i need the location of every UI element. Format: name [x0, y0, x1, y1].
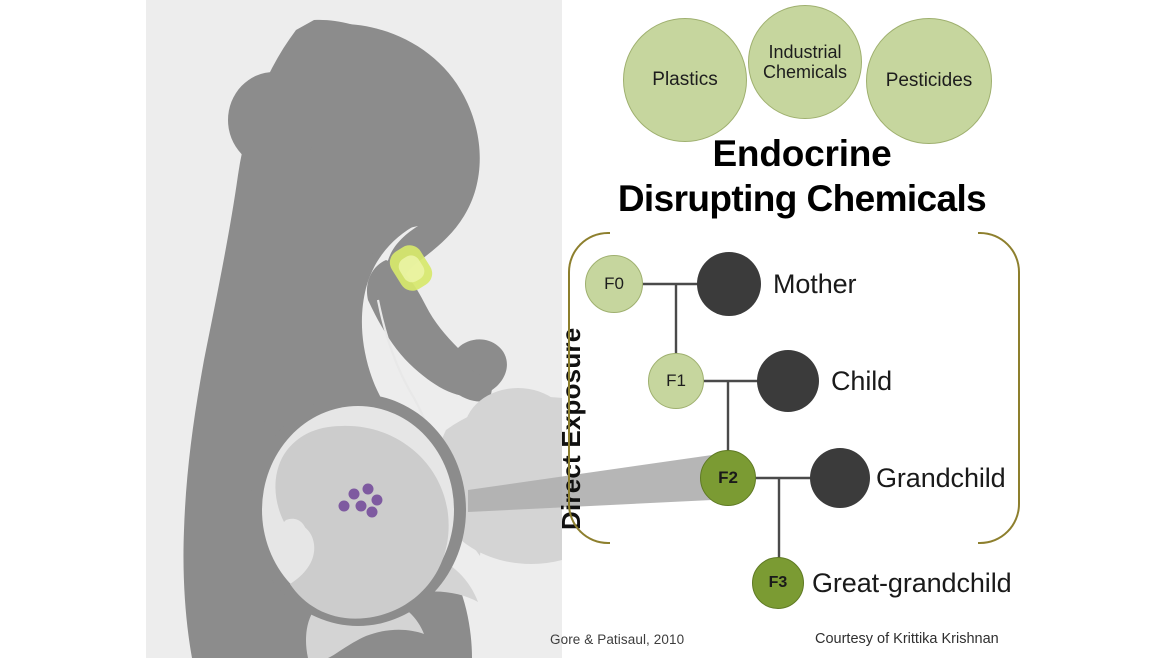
- pedigree-node-child-dot[interactable]: [757, 350, 819, 412]
- pedigree-node-f0[interactable]: F0: [585, 255, 643, 313]
- pedigree-node-f3[interactable]: F3: [752, 557, 804, 609]
- pedigree-node-f2[interactable]: F2: [700, 450, 756, 506]
- pedigree-node-code: F1: [666, 371, 686, 391]
- pedigree-node-code: F2: [718, 468, 738, 488]
- pedigree-node-code: F3: [769, 574, 788, 592]
- pedigree-node-mother-dot[interactable]: [697, 252, 761, 316]
- citation-right: Courtesy of Krittika Krishnan: [815, 631, 999, 647]
- pedigree-label-child: Child: [831, 366, 892, 397]
- pedigree-label-great-grandchild: Great-grandchild: [812, 568, 1012, 599]
- pedigree-connectors: [0, 0, 1170, 658]
- pedigree-node-f1[interactable]: F1: [648, 353, 704, 409]
- pedigree-node-code: F0: [604, 274, 624, 294]
- pedigree-label-grandchild: Grandchild: [876, 463, 1006, 494]
- pedigree-label-mother: Mother: [773, 269, 856, 300]
- pedigree-node-grandchild-dot[interactable]: [810, 448, 870, 508]
- figure-canvas: Gore & Patisaul, 2010 Plastics Industria…: [0, 0, 1170, 658]
